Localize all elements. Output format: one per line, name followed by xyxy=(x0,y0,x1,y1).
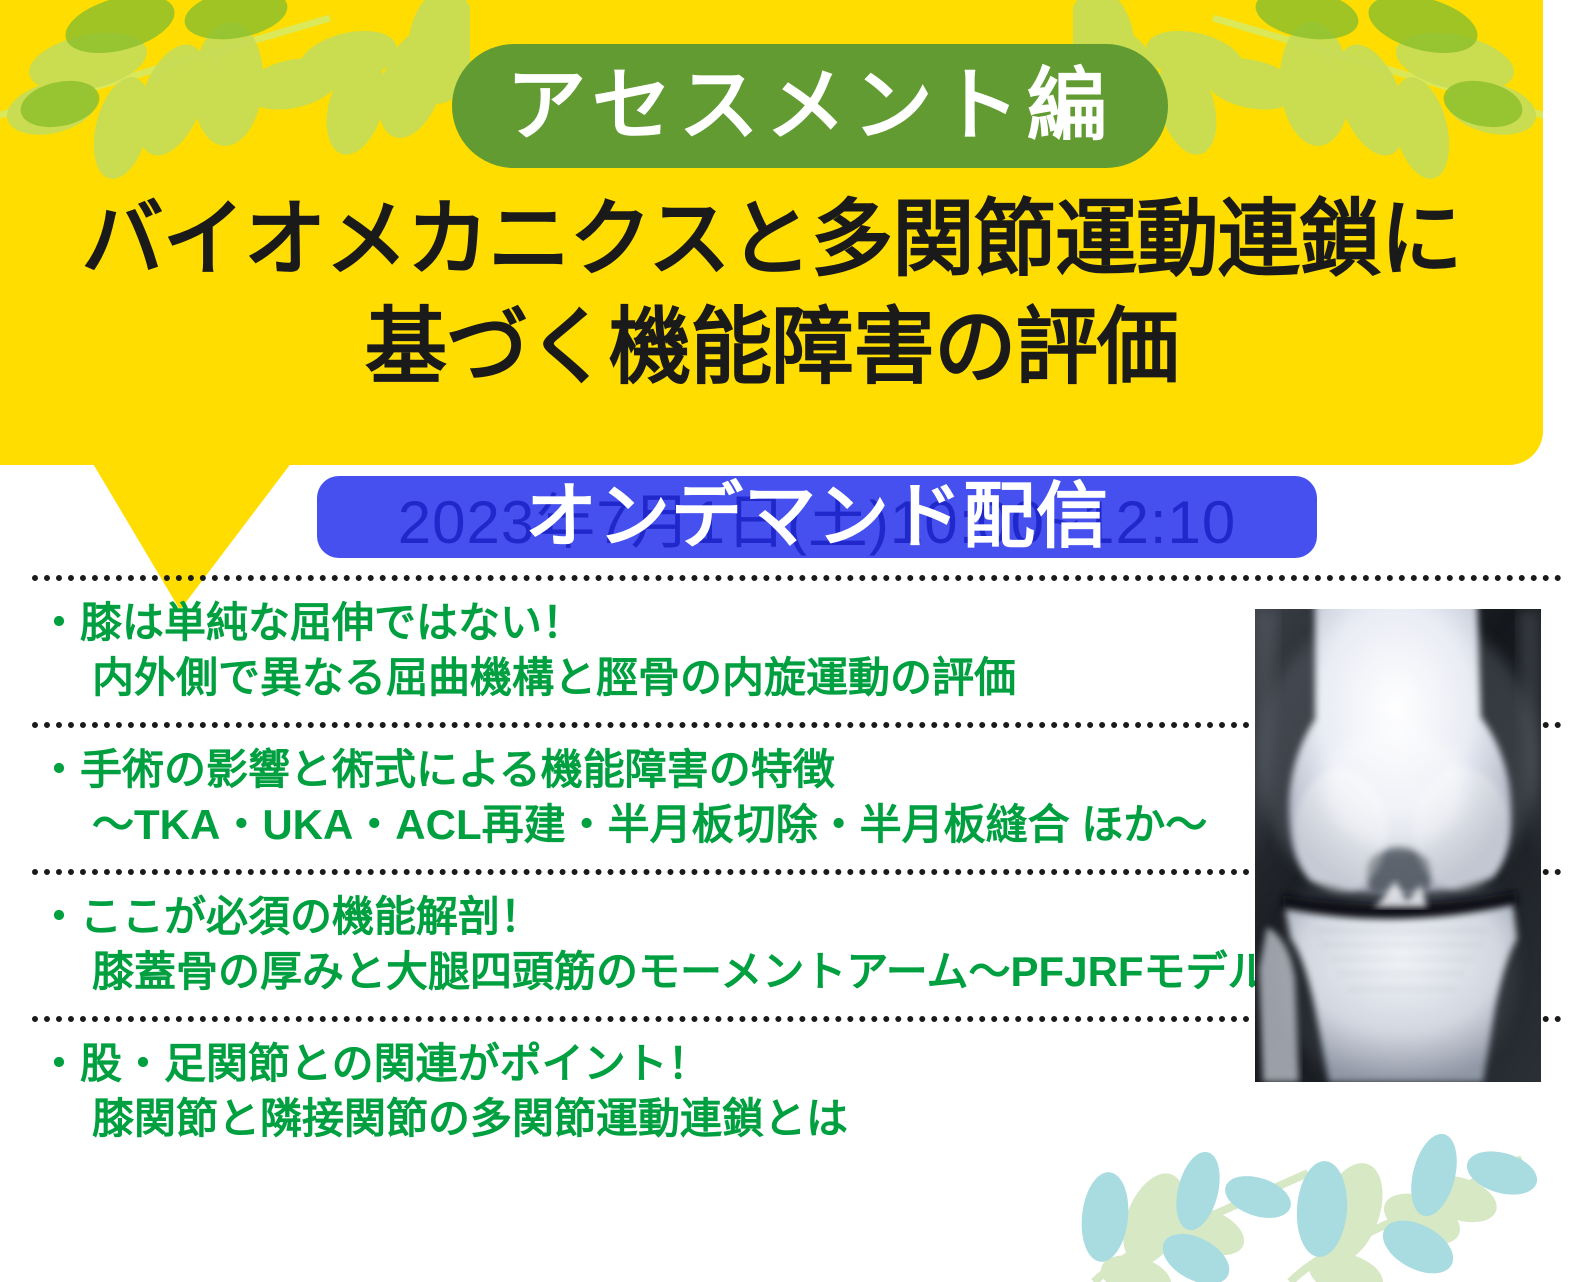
ondemand-banner-label: オンデマンド配信 xyxy=(317,481,1317,553)
leaf-branch-decoration-top-left xyxy=(0,0,470,200)
topic-subline: 膝関節と隣接関節の多関節運動連鎖とは xyxy=(0,1091,1590,1146)
page-title-line-1: バイオメカニクスと多関節運動連鎖に xyxy=(15,186,1527,294)
category-badge: アセスメント編 xyxy=(452,44,1168,168)
page-title-line-2: 基づく機能障害の評価 xyxy=(15,294,1527,402)
page-title: バイオメカニクスと多関節運動連鎖に 基づく機能障害の評価 xyxy=(0,186,1543,401)
ondemand-banner: 2023年7月1日(土)10:00~12:10 オンデマンド配信 xyxy=(317,476,1317,558)
category-badge-label: アセスメント編 xyxy=(506,66,1113,146)
knee-xray-image xyxy=(1255,609,1541,1082)
